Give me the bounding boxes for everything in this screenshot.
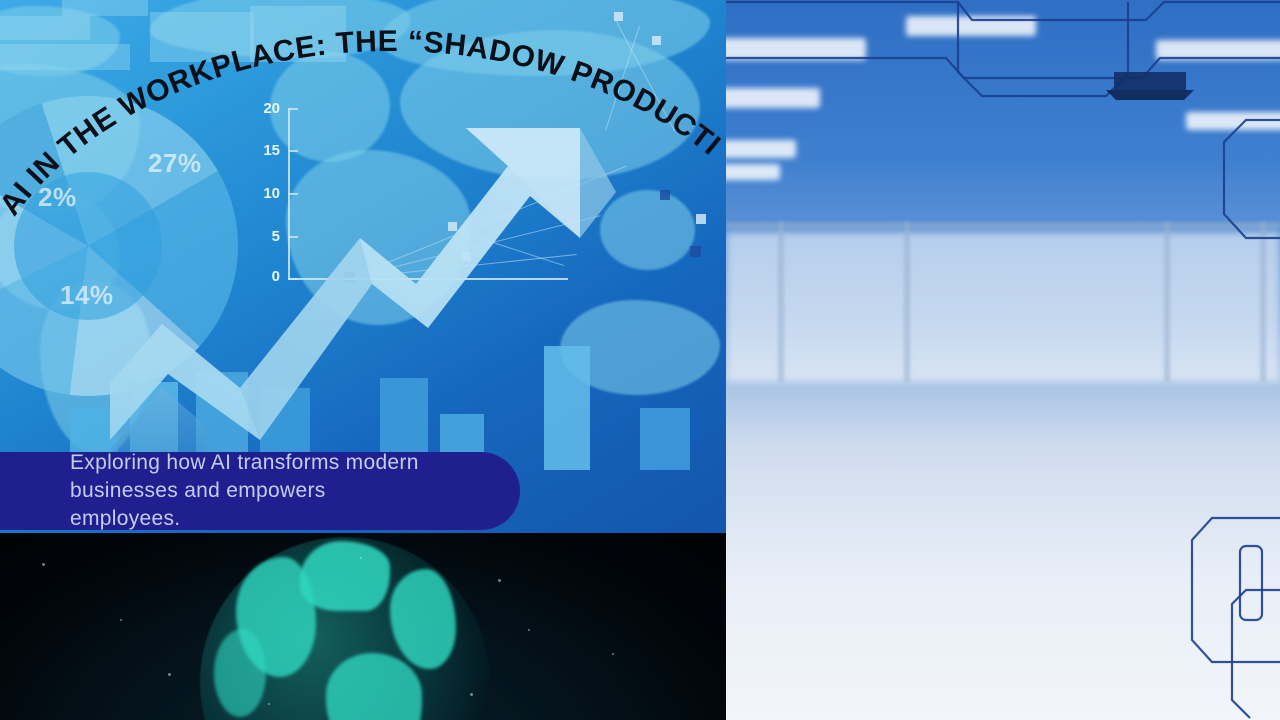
donut-label-14: 14% xyxy=(60,280,114,311)
star-dot xyxy=(498,579,501,582)
star-dot xyxy=(360,557,362,559)
map-block xyxy=(0,16,90,40)
subtitle-text: Exploring how AI transforms modern busin… xyxy=(70,449,440,532)
network-node xyxy=(652,36,661,45)
subtitle-line-2: businesses and empowers employees. xyxy=(70,477,440,532)
right-robot-panel xyxy=(726,0,1280,720)
donut-label-2: 2% xyxy=(38,182,77,213)
map-block xyxy=(0,44,130,70)
continent-shape xyxy=(214,629,266,717)
slide-canvas: 27% 14% 2% xyxy=(0,0,1280,720)
hud-pedestal-base xyxy=(1106,90,1194,100)
network-node xyxy=(696,214,706,224)
star-dot xyxy=(528,629,530,631)
hud-frame-bracket xyxy=(958,2,1128,96)
hud-pedestal xyxy=(1114,72,1186,90)
infographic-background: 27% 14% 2% xyxy=(0,0,726,533)
upward-trend-arrow-icon xyxy=(110,88,630,458)
subtitle-banner: Exploring how AI transforms modern busin… xyxy=(0,452,520,530)
network-node xyxy=(660,190,670,200)
map-block xyxy=(62,0,148,16)
star-dot xyxy=(470,693,473,696)
hud-frame-top xyxy=(726,2,1280,20)
hud-frame-top xyxy=(726,58,1280,78)
star-dot xyxy=(168,673,171,676)
star-dot xyxy=(120,619,122,621)
network-node xyxy=(614,12,623,21)
map-block xyxy=(150,12,254,62)
star-dot xyxy=(42,563,45,566)
digital-earth-strip xyxy=(0,533,726,720)
left-infographic-panel: 27% 14% 2% xyxy=(0,0,726,720)
hud-frame-right xyxy=(1224,120,1280,238)
map-block xyxy=(250,6,346,62)
star-dot xyxy=(612,653,614,655)
hud-accent-block xyxy=(1240,546,1262,620)
network-node xyxy=(690,246,701,257)
bar xyxy=(640,408,690,470)
hud-overlay xyxy=(726,0,1280,720)
subtitle-line-1: Exploring how AI transforms modern xyxy=(70,449,440,477)
star-dot xyxy=(268,703,270,705)
